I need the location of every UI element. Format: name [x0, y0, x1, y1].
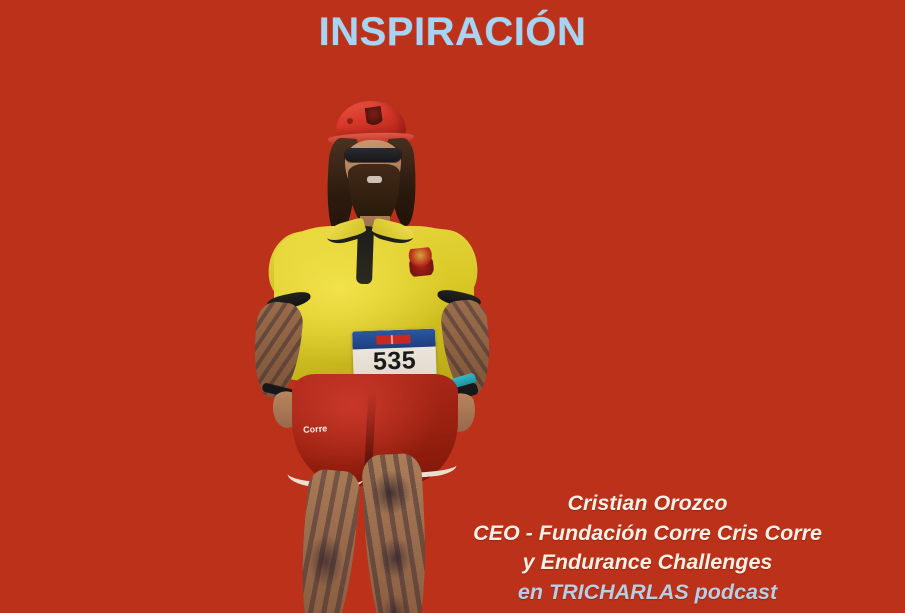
race-bib-header-logo-icon — [376, 334, 410, 344]
sunglasses-icon — [344, 148, 402, 162]
mouth — [367, 176, 382, 183]
tattoo-detail — [308, 534, 344, 588]
shirt-chest-logo-icon — [408, 247, 435, 277]
cap-logo-icon — [365, 106, 384, 128]
poster-canvas: INSPIRACIÓN — [0, 0, 905, 613]
race-bib-number: 535 — [353, 346, 437, 377]
shorts-branding-line3: Corre — [303, 422, 328, 436]
speaker-caption: Cristian Orozco CEO - Fundación Corre Cr… — [450, 489, 845, 607]
tattoo-detail — [370, 470, 412, 516]
caption-line-name: Cristian Orozco — [450, 489, 845, 519]
page-title: INSPIRACIÓN — [0, 8, 905, 56]
cap-eyelet — [347, 118, 353, 124]
caption-line-role: CEO - Fundación Corre Cris Corre — [450, 519, 845, 549]
tattoo-detail — [378, 536, 412, 580]
shorts-branding: Corre Cris Corre — [303, 420, 360, 462]
caption-line-org: y Endurance Challenges — [450, 548, 845, 578]
caption-line-podcast: en TRICHARLAS podcast — [450, 578, 845, 608]
